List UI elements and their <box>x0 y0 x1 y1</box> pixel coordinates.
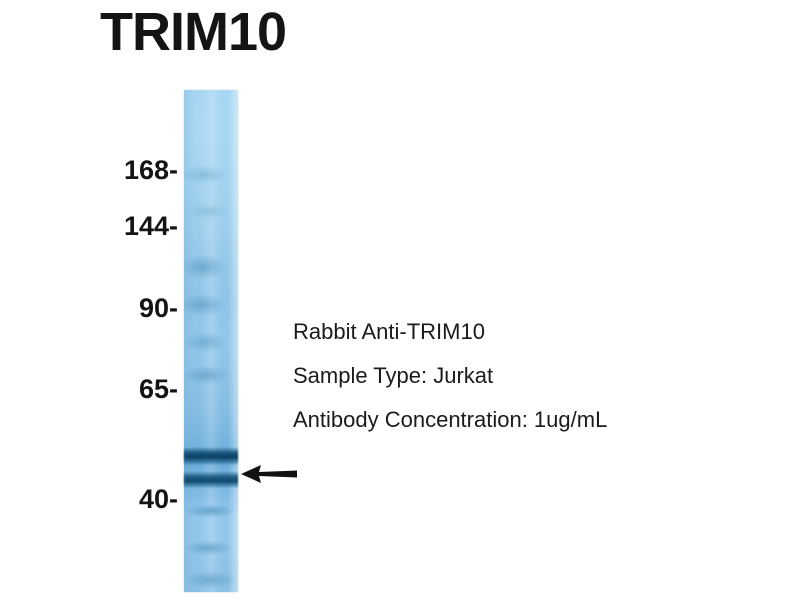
mw-marker-65: 65- <box>139 376 178 403</box>
molecular-weight-marker-list: 168- 144- 90- 65- 40- <box>60 0 178 600</box>
annotation-antibody: Rabbit Anti-TRIM10 <box>293 310 763 354</box>
mw-marker-90: 90- <box>139 295 178 322</box>
blot-band-faint <box>184 538 238 558</box>
blot-band-faint <box>184 290 238 320</box>
blot-band-main-upper <box>184 448 238 465</box>
lane-edge-shading-left <box>184 90 196 592</box>
annotation-antibody-concentration: Antibody Concentration: 1ug/mL <box>293 398 763 442</box>
blot-band-faint <box>184 162 238 188</box>
band-indicator-arrow <box>241 463 297 485</box>
blot-band-faint <box>184 328 238 356</box>
mw-marker-40: 40- <box>139 486 178 513</box>
blot-band-faint <box>184 200 238 222</box>
mw-marker-144: 144- <box>124 213 178 240</box>
blot-band-faint <box>184 362 238 388</box>
lane-highlight-center <box>200 90 222 592</box>
mw-marker-168: 168- <box>124 157 178 184</box>
annotation-sample-type: Sample Type: Jurkat <box>293 354 763 398</box>
blot-band-faint <box>184 250 238 284</box>
annotation-block: Rabbit Anti-TRIM10 Sample Type: Jurkat A… <box>293 310 763 442</box>
blot-band-faint <box>184 568 238 592</box>
blot-lane <box>184 90 238 592</box>
blot-band-main-lower <box>184 472 238 488</box>
lane-edge-shading-right <box>228 90 238 592</box>
blot-band-faint <box>184 502 238 520</box>
western-blot-figure: TRIM10 168- 144- 90- 65- 40- Rabbit Anti… <box>0 0 800 600</box>
